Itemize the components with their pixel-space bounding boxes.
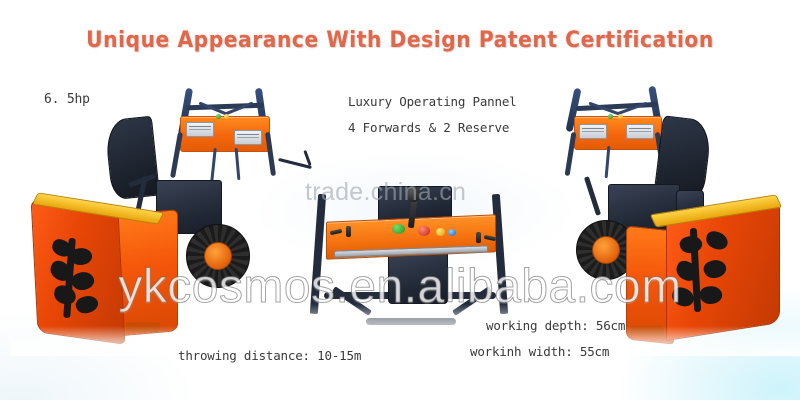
panel-button-blue bbox=[448, 229, 456, 236]
panel-button-yellow bbox=[436, 228, 445, 236]
label-gearbox: 4 Forwards & 2 Reserve bbox=[348, 120, 509, 135]
wheel-rim bbox=[592, 236, 620, 264]
console-stalk-right bbox=[265, 132, 276, 176]
console-stalk-left bbox=[565, 132, 577, 176]
scene-snow-blower-left bbox=[10, 176, 260, 356]
console-gauge-left bbox=[186, 122, 214, 137]
console-button-green bbox=[608, 114, 613, 119]
label-throwing-distance: throwing distance: 10-15m bbox=[178, 348, 361, 363]
gear-shift-knob bbox=[406, 186, 420, 202]
console-stalk-left bbox=[170, 132, 183, 178]
panel-switch-right bbox=[476, 232, 481, 243]
console-gauge-left bbox=[579, 124, 607, 139]
console-button-green bbox=[216, 114, 221, 119]
skid-shoe bbox=[630, 326, 664, 336]
console-cable bbox=[605, 146, 611, 178]
frame-diagonal-left bbox=[332, 286, 372, 316]
wheel-rim bbox=[204, 242, 232, 270]
console-gauge-right bbox=[626, 124, 654, 139]
label-engine-power: 6. 5hp bbox=[44, 92, 90, 107]
scene-operating-panel bbox=[300, 186, 530, 336]
label-control-panel: Luxury Operating Pannel bbox=[348, 94, 517, 109]
console-button-yellow bbox=[618, 114, 623, 119]
panel-button-red bbox=[418, 226, 430, 236]
page-title: Unique Appearance With Design Patent Cer… bbox=[32, 28, 768, 53]
console-gauge-right bbox=[234, 130, 262, 145]
frame-diagonal-right bbox=[452, 286, 492, 316]
handle-frame bbox=[584, 176, 601, 216]
label-working-depth: working depth: 56cm bbox=[486, 318, 625, 333]
panel-button-green bbox=[392, 224, 405, 234]
label-working-width: workinh width: 55cm bbox=[470, 344, 609, 359]
panel-switch-left bbox=[346, 226, 351, 237]
skid-shoe bbox=[126, 322, 160, 332]
product-banner: Unique Appearance With Design Patent Cer… bbox=[0, 0, 800, 400]
frame-bottom-loop bbox=[366, 318, 456, 325]
gearbox-housing bbox=[388, 250, 448, 304]
console-button-yellow bbox=[224, 114, 229, 119]
